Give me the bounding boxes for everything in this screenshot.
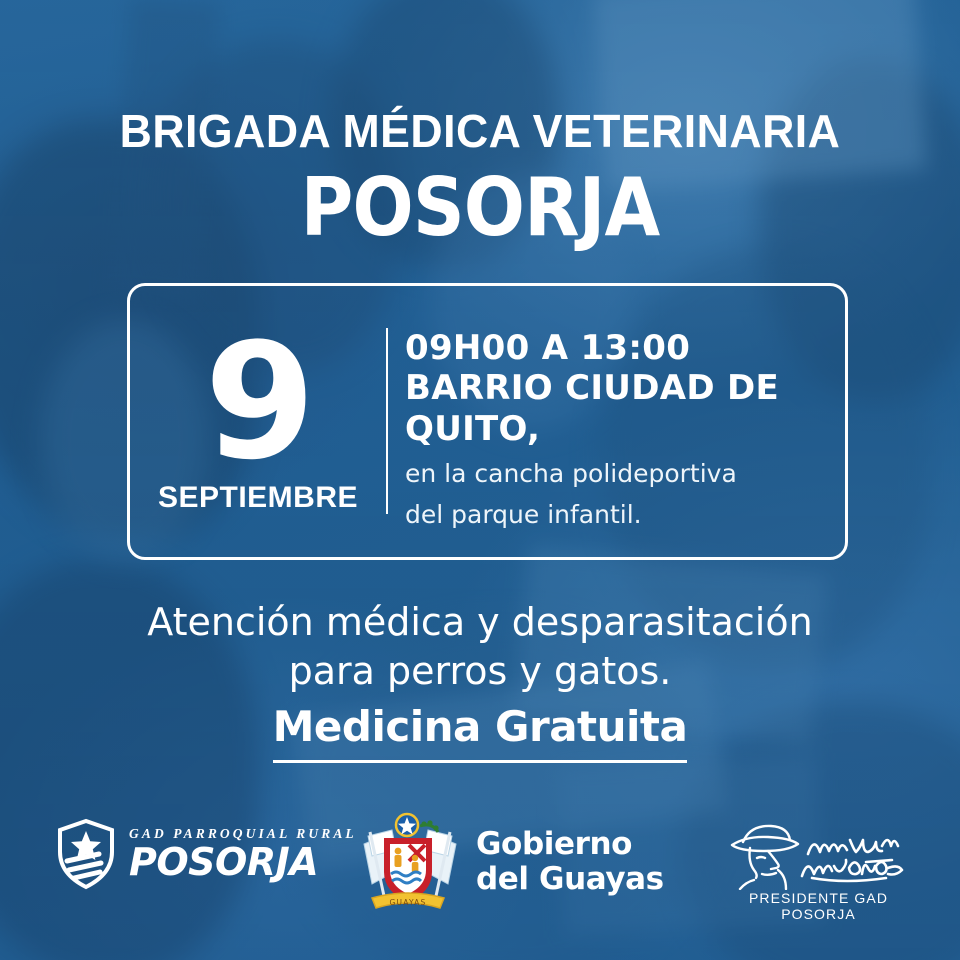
logo-president-signature: PRESIDENTE GAD POSORJA [716,818,921,922]
event-venue-line1: en la cancha polideportiva [405,459,829,490]
svg-text:GUAYAS: GUAYAS [390,898,427,907]
guayas-coat-of-arms-icon: GUAYAS [358,810,462,914]
poster-canvas: BRIGADA MÉDICA VETERINARIA POSORJA 9 SEP… [0,0,960,960]
service-description-line1: Atención médica y desparasitación [0,598,960,647]
service-description: Atención médica y desparasitación para p… [0,598,960,695]
page-title-primary: BRIGADA MÉDICA VETERINARIA [14,104,945,158]
footer-logos: GAD PARROQUIAL RURAL POSORJA [0,800,960,930]
free-medicine-label: Medicina Gratuita [273,702,688,763]
event-info-box: 9 SEPTIEMBRE 09H00 A 13:00 BARRIO CIUDAD… [127,283,848,560]
guayas-line1: Gobierno [476,827,664,862]
event-month: SEPTIEMBRE [158,481,358,515]
shield-star-icon [55,818,117,890]
event-schedule: 09H00 A 13:00 [405,328,829,368]
free-medicine-wrap: Medicina Gratuita [0,702,960,763]
event-location-line2: QUITO, [405,409,829,449]
guayas-wordmark: Gobierno del Guayas [476,827,664,898]
posorja-wordmark: POSORJA [129,843,357,882]
service-description-line2: para perros y gatos. [0,647,960,696]
president-caption: PRESIDENTE GAD POSORJA [716,890,921,922]
logo-gobierno-del-guayas: GUAYAS Gobierno del Guayas [358,810,664,914]
logo-gad-posorja: GAD PARROQUIAL RURAL POSORJA [55,818,357,890]
event-venue-line2: del parque infantil. [405,500,829,531]
president-portrait-signature-icon [716,818,921,890]
event-day: 9 [204,336,311,467]
event-detail-block: 09H00 A 13:00 BARRIO CIUDAD DE QUITO, en… [405,328,829,530]
event-date-block: 9 SEPTIEMBRE [130,286,386,557]
guayas-line2: del Guayas [476,862,664,897]
event-location-line1: BARRIO CIUDAD DE [405,368,829,408]
page-title-location: POSORJA [48,168,912,248]
vertical-divider [386,328,388,514]
